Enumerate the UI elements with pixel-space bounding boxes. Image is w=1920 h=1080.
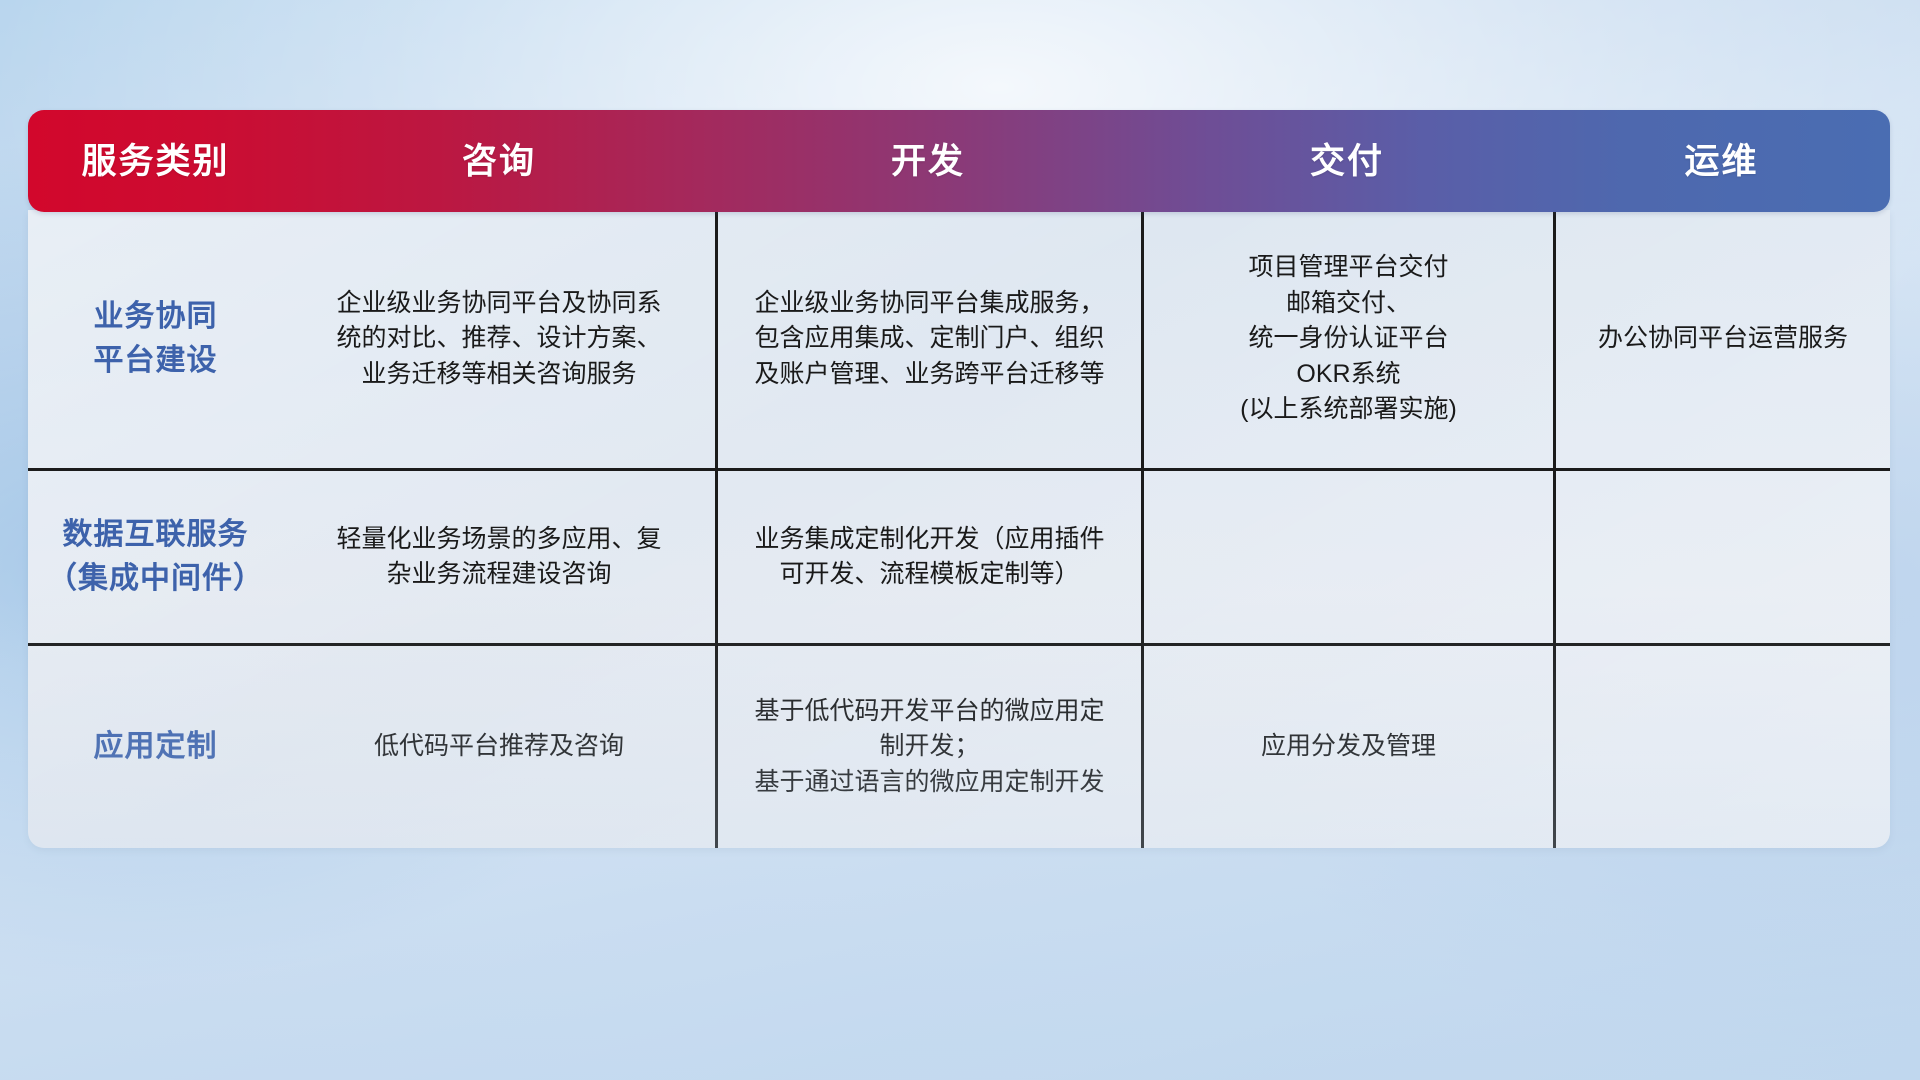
cell-delivery: 项目管理平台交付 邮箱交付、 统一身份认证平台 OKR系统 (以上系统部署实施) — [1141, 210, 1553, 468]
cell-consulting: 企业级业务协同平台及协同系 统的对比、推荐、设计方案、 业务迁移等相关咨询服务 — [283, 210, 715, 468]
column-header-operations: 运维 — [1553, 144, 1890, 179]
column-header-consulting: 咨询 — [283, 144, 715, 179]
column-header-development: 开发 — [715, 144, 1141, 179]
cell-development: 企业级业务协同平台集成服务， 包含应用集成、定制门户、组织 及账户管理、业务跨平… — [715, 210, 1141, 468]
table-row: 业务协同 平台建设 企业级业务协同平台及协同系 统的对比、推荐、设计方案、 业务… — [28, 210, 1890, 468]
table-row: 应用定制 低代码平台推荐及咨询 基于低代码开发平台的微应用定 制开发； 基于通过… — [28, 643, 1890, 848]
row-category-label: 数据互联服务 （集成中间件） — [28, 471, 283, 643]
cell-consulting: 低代码平台推荐及咨询 — [283, 646, 715, 848]
cell-consulting: 轻量化业务场景的多应用、复 杂业务流程建设咨询 — [283, 471, 715, 643]
cell-operations — [1553, 646, 1890, 848]
row-category-label: 应用定制 — [28, 646, 283, 848]
cell-development: 基于低代码开发平台的微应用定 制开发； 基于通过语言的微应用定制开发 — [715, 646, 1141, 848]
table-row: 数据互联服务 （集成中间件） 轻量化业务场景的多应用、复 杂业务流程建设咨询 业… — [28, 468, 1890, 643]
column-header-service-category: 服务类别 — [28, 144, 283, 179]
cell-delivery — [1141, 471, 1553, 643]
table-body: 业务协同 平台建设 企业级业务协同平台及协同系 统的对比、推荐、设计方案、 业务… — [28, 210, 1890, 848]
cell-development: 业务集成定制化开发（应用插件 可开发、流程模板定制等） — [715, 471, 1141, 643]
row-category-label: 业务协同 平台建设 — [28, 210, 283, 468]
cell-operations: 办公协同平台运营服务 — [1553, 210, 1890, 468]
service-matrix-table: 服务类别 咨询 开发 交付 运维 业务协同 平台建设 企业级业务协同平台及协同系… — [28, 110, 1890, 848]
table-header-row: 服务类别 咨询 开发 交付 运维 — [28, 110, 1890, 212]
slide-canvas: 服务类别 咨询 开发 交付 运维 业务协同 平台建设 企业级业务协同平台及协同系… — [0, 0, 1920, 1080]
column-header-delivery: 交付 — [1141, 144, 1553, 179]
cell-delivery: 应用分发及管理 — [1141, 646, 1553, 848]
cell-operations — [1553, 471, 1890, 643]
